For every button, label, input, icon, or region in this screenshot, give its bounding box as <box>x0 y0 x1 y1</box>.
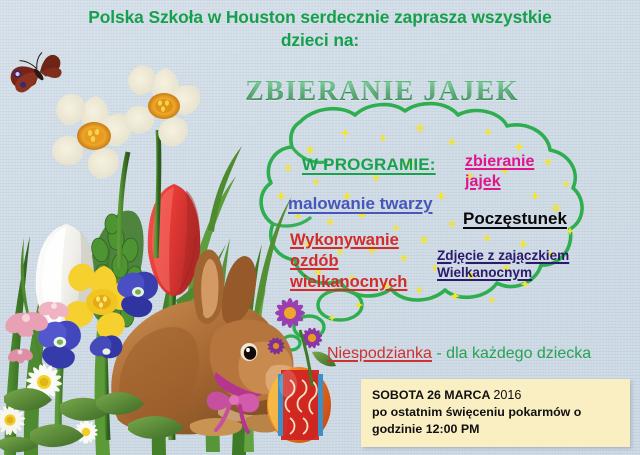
headline-line-2: dzieci na: <box>14 29 626 52</box>
program-item-decorations-line-1: Wykonywanie <box>290 230 407 251</box>
blue-pansy <box>38 272 158 369</box>
yellow-daffodil <box>64 264 136 440</box>
green-leaves <box>0 388 184 452</box>
program-item-refreshments: Poczęstunek <box>463 209 567 229</box>
program-item-egg-hunt-line-2: jajek <box>465 172 534 192</box>
easter-egg-hunt-poster: Polska Szkoła w Houston serdecznie zapra… <box>0 0 640 455</box>
program-item-face-painting: malowanie twarzy <box>288 194 433 214</box>
surprise-line: Niespodzianka - dla każdego dziecka <box>327 345 591 363</box>
green-hyacinth-buds <box>88 211 144 334</box>
pink-ribbon-bow <box>207 372 262 432</box>
program-item-photo-with-bunny: Zdjęcie z zajączkiem Wielkanocnym <box>437 247 569 281</box>
program-item-egg-hunt-line-1: zbieranie <box>465 152 534 172</box>
date-line: SOBOTA 26 MARCA 2016 <box>372 387 630 404</box>
headline-line-1: Polska Szkoła w Houston serdecznie zapra… <box>14 6 626 29</box>
surprise-subtext: - dla każdego dziecka <box>432 345 591 362</box>
white-daffodil <box>52 94 132 268</box>
program-item-decorations: Wykonywanie ozdób wielkanocnych <box>290 230 407 293</box>
pink-flower <box>2 299 72 380</box>
butterfly <box>6 48 66 95</box>
date-time-box: SOBOTA 26 MARCA 2016 po ostatnim święcen… <box>361 379 630 447</box>
program-item-photo-line-1: Zdjęcie z zajączkiem <box>437 247 569 264</box>
grass-blades <box>4 146 292 455</box>
purple-aster-flowers <box>267 298 336 386</box>
cream-daffodil <box>124 66 200 258</box>
event-title: ZBIERANIE JAJEK <box>232 76 532 108</box>
red-tulip <box>148 184 226 440</box>
white-tulip <box>21 224 95 442</box>
program-item-photo-line-2: Wielkanocnym <box>437 264 569 281</box>
date-year: 2016 <box>493 388 521 402</box>
program-item-egg-hunt: zbieranie jajek <box>465 152 534 192</box>
decorated-easter-egg <box>267 367 331 443</box>
date-note-line-2: godzinie 12:00 PM <box>372 421 630 438</box>
surprise-word: Niespodzianka <box>327 345 432 362</box>
program-heading: W PROGRAMIE: <box>302 155 436 175</box>
date-note-line-1: po ostatnim święceniu pokarmów o <box>372 404 630 421</box>
page-title: Polska Szkoła w Houston serdecznie zapra… <box>14 6 626 52</box>
white-daisy <box>0 364 98 444</box>
date-day: SOBOTA 26 MARCA <box>372 388 493 402</box>
program-item-decorations-line-3: wielkanocnych <box>290 272 407 293</box>
program-item-decorations-line-2: ozdób <box>290 251 407 272</box>
